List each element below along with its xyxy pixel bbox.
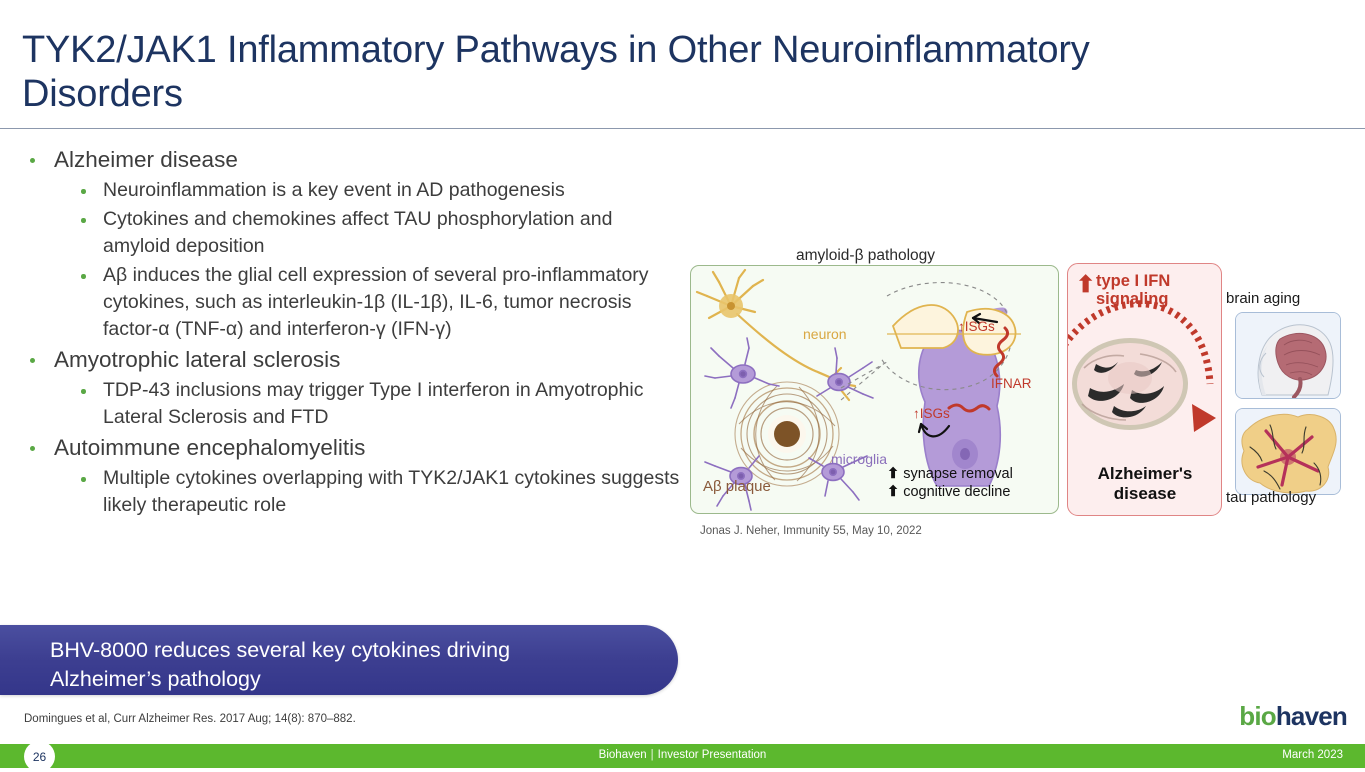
slide-root: TYK2/JAK1 Inflammatory Pathways in Other… <box>0 0 1365 768</box>
figure-title: amyloid-β pathology <box>796 247 935 265</box>
label-alzheimers-disease: Alzheimer's disease <box>1080 464 1210 504</box>
label-ifnar: IFNAR <box>991 376 1032 391</box>
cognitive-decline-text: cognitive decline <box>903 484 1010 500</box>
label-cognitive-decline: ⬆ cognitive decline <box>887 484 1010 500</box>
label-microglia: microglia <box>831 451 887 467</box>
bullet-level1: Amyotrophic lateral sclerosis <box>22 345 682 375</box>
head-profile-icon <box>1236 313 1340 398</box>
tau-neuron-icon <box>1236 409 1340 494</box>
key-message-text: BHV-8000 reduces several key cytokines d… <box>50 636 640 694</box>
label-synapse-removal: ⬆ synapse removal <box>887 466 1013 482</box>
footer-center-text: Biohaven|Investor Presentation <box>0 749 1365 761</box>
bullet-group-eae: Autoimmune encephalomyelitis Multiple cy… <box>22 433 682 519</box>
bullet-list: Alzheimer disease Neuroinflammation is a… <box>22 145 682 521</box>
bullet-level2: Neuroinflammation is a key event in AD p… <box>22 177 682 204</box>
alzheimers-text: Alzheimer's <box>1098 464 1193 483</box>
bullet-level2: Cytokines and chemokines affect TAU phos… <box>22 206 682 260</box>
up-arrow-icon: ↑ <box>958 319 965 334</box>
synapse-removal-text: synapse removal <box>903 466 1013 482</box>
bullet-group-alzheimer: Alzheimer disease Neuroinflammation is a… <box>22 145 682 343</box>
footer-deck-name: Investor Presentation <box>658 749 767 761</box>
brain-aging-thumbnail <box>1235 312 1341 399</box>
footer-company: Biohaven <box>599 749 647 761</box>
amyloid-pathology-panel: neuron microglia Aβ plaque IFNAR ↑ISGs ↑… <box>690 265 1059 514</box>
footer-separator: | <box>647 749 658 761</box>
logo-bio-text: bio <box>1239 701 1276 731</box>
bullet-level1: Alzheimer disease <box>22 145 682 175</box>
bullet-group-als: Amyotrophic lateral sclerosis TDP-43 inc… <box>22 345 682 431</box>
up-arrow-icon: ↑ <box>913 406 920 421</box>
biohaven-logo: biohaven <box>1239 702 1347 730</box>
bullet-level1: Autoimmune encephalomyelitis <box>22 433 682 463</box>
pathology-figure: amyloid-β pathology <box>686 240 1346 540</box>
label-brain-aging: brain aging <box>1226 290 1300 307</box>
isgs-neuron-text: ISGs <box>965 319 995 334</box>
bullet-level2: Multiple cytokines overlapping with TYK2… <box>22 465 682 519</box>
footer-date: March 2023 <box>1282 749 1343 761</box>
figure-caption: Jonas J. Neher, Immunity 55, May 10, 202… <box>700 525 922 537</box>
reference-citation: Domingues et al, Curr Alzheimer Res. 201… <box>24 713 356 725</box>
label-isgs-microglia: ↑ISGs <box>913 406 950 421</box>
page-title: TYK2/JAK1 Inflammatory Pathways in Other… <box>22 28 1202 116</box>
logo-haven-text: haven <box>1276 701 1347 731</box>
isgs-microglia-text: ISGs <box>920 406 950 421</box>
up-arrow-icon: ⬆ <box>887 466 899 482</box>
key-message-line1: BHV-8000 reduces several key cytokines d… <box>50 638 510 662</box>
key-message-line2: Alzheimer’s pathology <box>50 667 261 691</box>
up-arrow-icon: ⬆ <box>887 484 899 500</box>
type-i-ifn-panel: ⬆ type I IFN signaling <box>1067 263 1222 516</box>
bullet-level2: TDP-43 inclusions may trigger Type I int… <box>22 377 682 431</box>
label-tau-pathology: tau pathology <box>1226 489 1316 506</box>
tau-pathology-thumbnail <box>1235 408 1341 495</box>
title-divider <box>0 128 1365 129</box>
label-isgs-neuron: ↑ISGs <box>958 319 995 334</box>
bullet-level2: Aβ induces the glial cell expression of … <box>22 262 682 343</box>
disease-text: disease <box>1114 484 1176 503</box>
label-neuron: neuron <box>803 326 847 342</box>
key-message-banner: BHV-8000 reduces several key cytokines d… <box>0 625 678 695</box>
label-ab-plaque: Aβ plaque <box>703 478 771 495</box>
